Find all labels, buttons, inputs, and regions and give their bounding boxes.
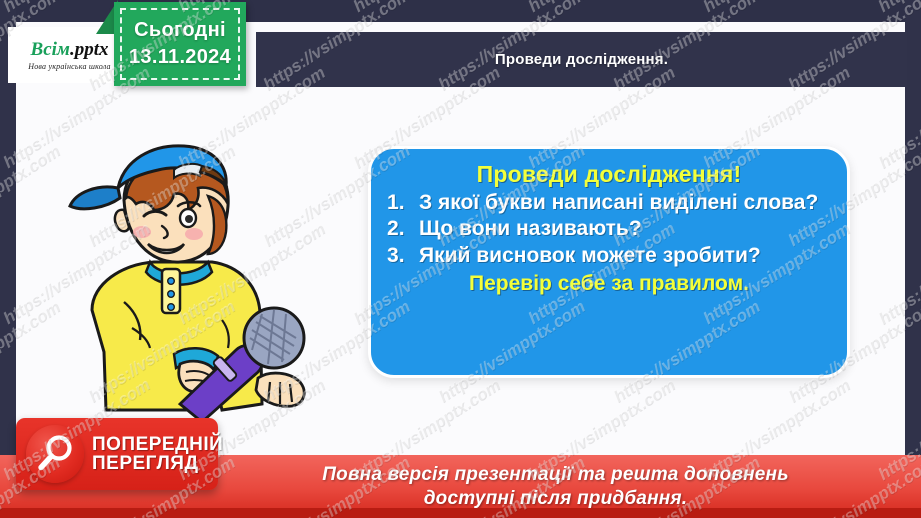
question-list: З якої букви написані виділені слова? Що…	[385, 191, 833, 268]
list-item: Що вони називають?	[419, 217, 829, 241]
site-logo: Всім.pptx Нова українська школа	[8, 27, 131, 83]
purchase-notice-line-1: Повна версія презентації та решта доповн…	[322, 463, 788, 487]
date-badge-text: Сьогодні 13.11.2024	[114, 2, 246, 86]
preview-badge: ПОПЕРЕДНІЙ ПЕРЕГЛЯД	[16, 418, 218, 490]
logo-wordmark: Всім.pptx	[31, 40, 109, 59]
presentation-slide: Всім.pptx Нова українська школа Сьогодні…	[0, 0, 921, 518]
slide-header-title: Проведи дослідження.	[495, 51, 668, 68]
task-panel-title: Проведи дослідження!	[385, 161, 833, 188]
magnifier-icon	[26, 425, 84, 483]
task-panel-footer: Перевір себе за правилом.	[385, 272, 833, 296]
logo-name-first: Всім	[31, 39, 70, 60]
date-badge-value: 13.11.2024	[129, 46, 231, 69]
preview-badge-line-2: ПЕРЕГЛЯД	[92, 454, 223, 473]
purchase-notice-text: Повна версія презентації та решта доповн…	[132, 463, 788, 511]
preview-badge-words: ПОПЕРЕДНІЙ ПЕРЕГЛЯД	[92, 435, 223, 474]
logo-subtitle: Нова українська школа	[28, 62, 110, 71]
task-panel: Проведи дослідження! З якої букви написа…	[368, 146, 850, 378]
logo-name-second: .pptx	[70, 39, 109, 60]
date-badge-label: Сьогодні	[134, 19, 226, 42]
preview-badge-line-1: ПОПЕРЕДНІЙ	[92, 435, 223, 454]
slide-header-bar: Проведи дослідження.	[256, 32, 907, 87]
frame-right-strip	[905, 0, 921, 518]
list-item: З якої букви написані виділені слова?	[419, 191, 829, 215]
purchase-notice-line-2: доступні після придбання.	[322, 487, 788, 511]
date-badge: Сьогодні 13.11.2024	[114, 2, 246, 86]
boy-with-microphone-illustration	[62, 142, 312, 427]
banner-bottom-strip	[0, 508, 921, 518]
list-item: Який висновок можете зробити?	[419, 244, 829, 268]
